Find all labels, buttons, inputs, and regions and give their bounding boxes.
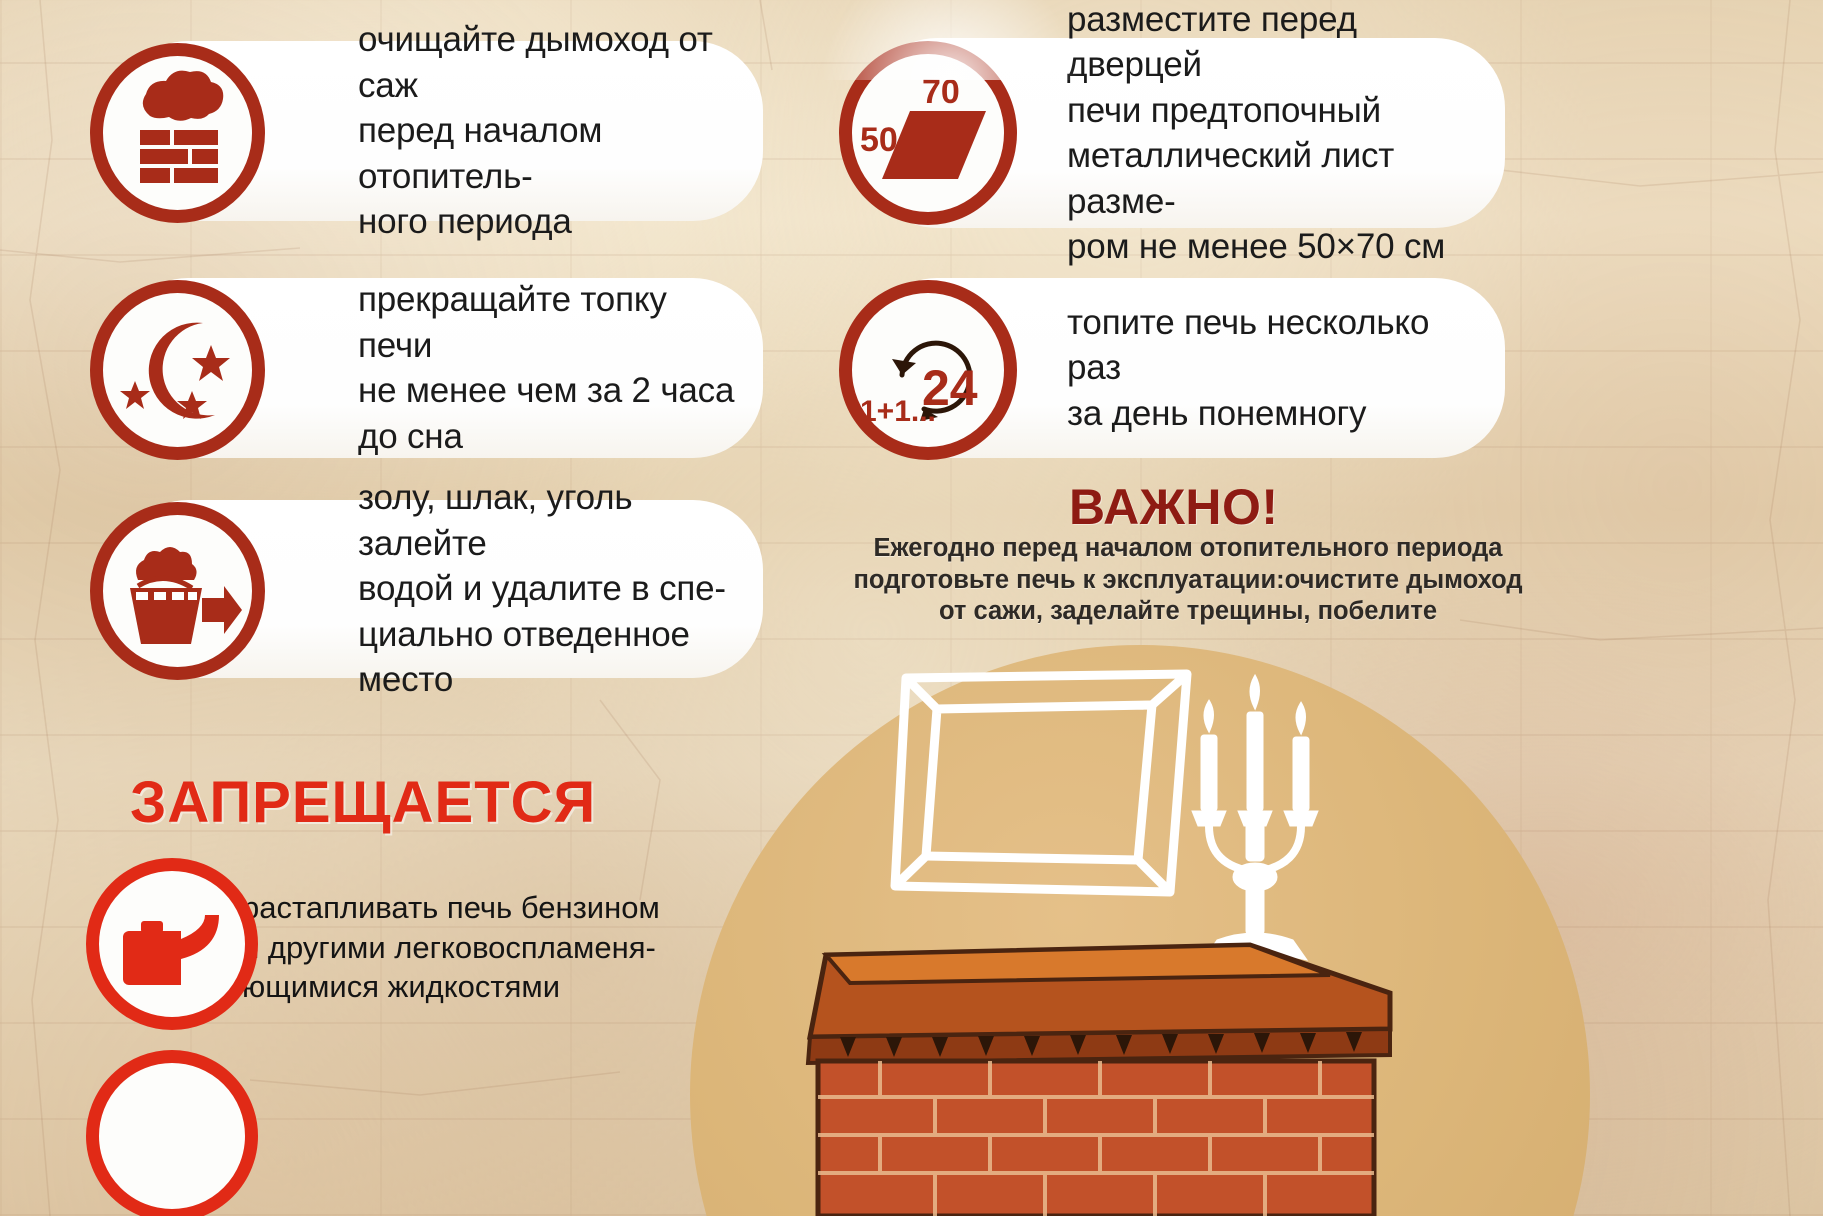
ash-bucket-arrow-icon (90, 502, 265, 680)
rule-text-chimney: очищайте дымоход от саж перед началом от… (358, 17, 741, 245)
stove-brick-body (818, 1061, 1374, 1216)
sheet-height-label: 50 (860, 121, 898, 159)
cycle-1plus1-label: 1+1... (860, 395, 936, 428)
important-heading: ВАЖНО! (1069, 478, 1279, 536)
moon-stars-icon (90, 280, 265, 460)
rule-text-stop-before-sleep: прекращайте топку печи не менее чем за 2… (358, 277, 741, 459)
rule-text-ash-disposal: золу, шлак, уголь залейте водой и удалит… (358, 475, 747, 703)
rule-text-heat-several-times: топите печь несколько раз за день понемн… (1067, 300, 1489, 437)
forbidden-icon-partial (86, 1050, 258, 1216)
picture-frame-icon (895, 674, 1187, 892)
metal-sheet-50x70-icon: 70 50 (839, 41, 1017, 225)
illustration-art (690, 645, 1823, 1216)
cycle-24h-icon: 24 1+1... (839, 280, 1017, 460)
stove-illustration (690, 645, 1823, 1216)
forbidden-text-no-gasoline: растапливать печь бензином и другими лег… (242, 888, 712, 1007)
rule-text-metal-sheet: разместите перед дверцей печи предтопочн… (1067, 0, 1489, 270)
chimney-smoke-icon (90, 43, 265, 223)
stove-mantel (808, 945, 1390, 1063)
candelabra-icon (1192, 677, 1318, 960)
no-gasoline-canister-icon (86, 858, 258, 1030)
sheet-width-label: 70 (922, 73, 960, 111)
forbidden-heading: ЗАПРЕЩАЕТСЯ (130, 769, 596, 836)
important-body: Ежегодно перед началом отопительного пер… (848, 533, 1528, 628)
